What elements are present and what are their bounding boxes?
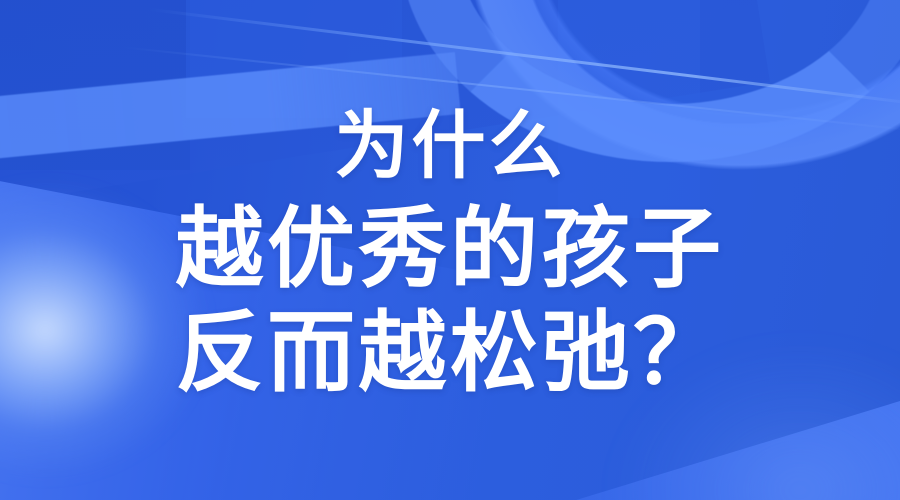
poster-canvas: 为什么 越优秀的孩子 反而越松弛？	[0, 0, 900, 500]
headline-line-1: 为什么	[335, 109, 566, 183]
headline-block: 为什么 越优秀的孩子 反而越松弛？	[0, 0, 900, 500]
headline-line-3: 反而越松弛？	[175, 309, 724, 397]
headline-line-2: 越优秀的孩子	[175, 205, 724, 293]
